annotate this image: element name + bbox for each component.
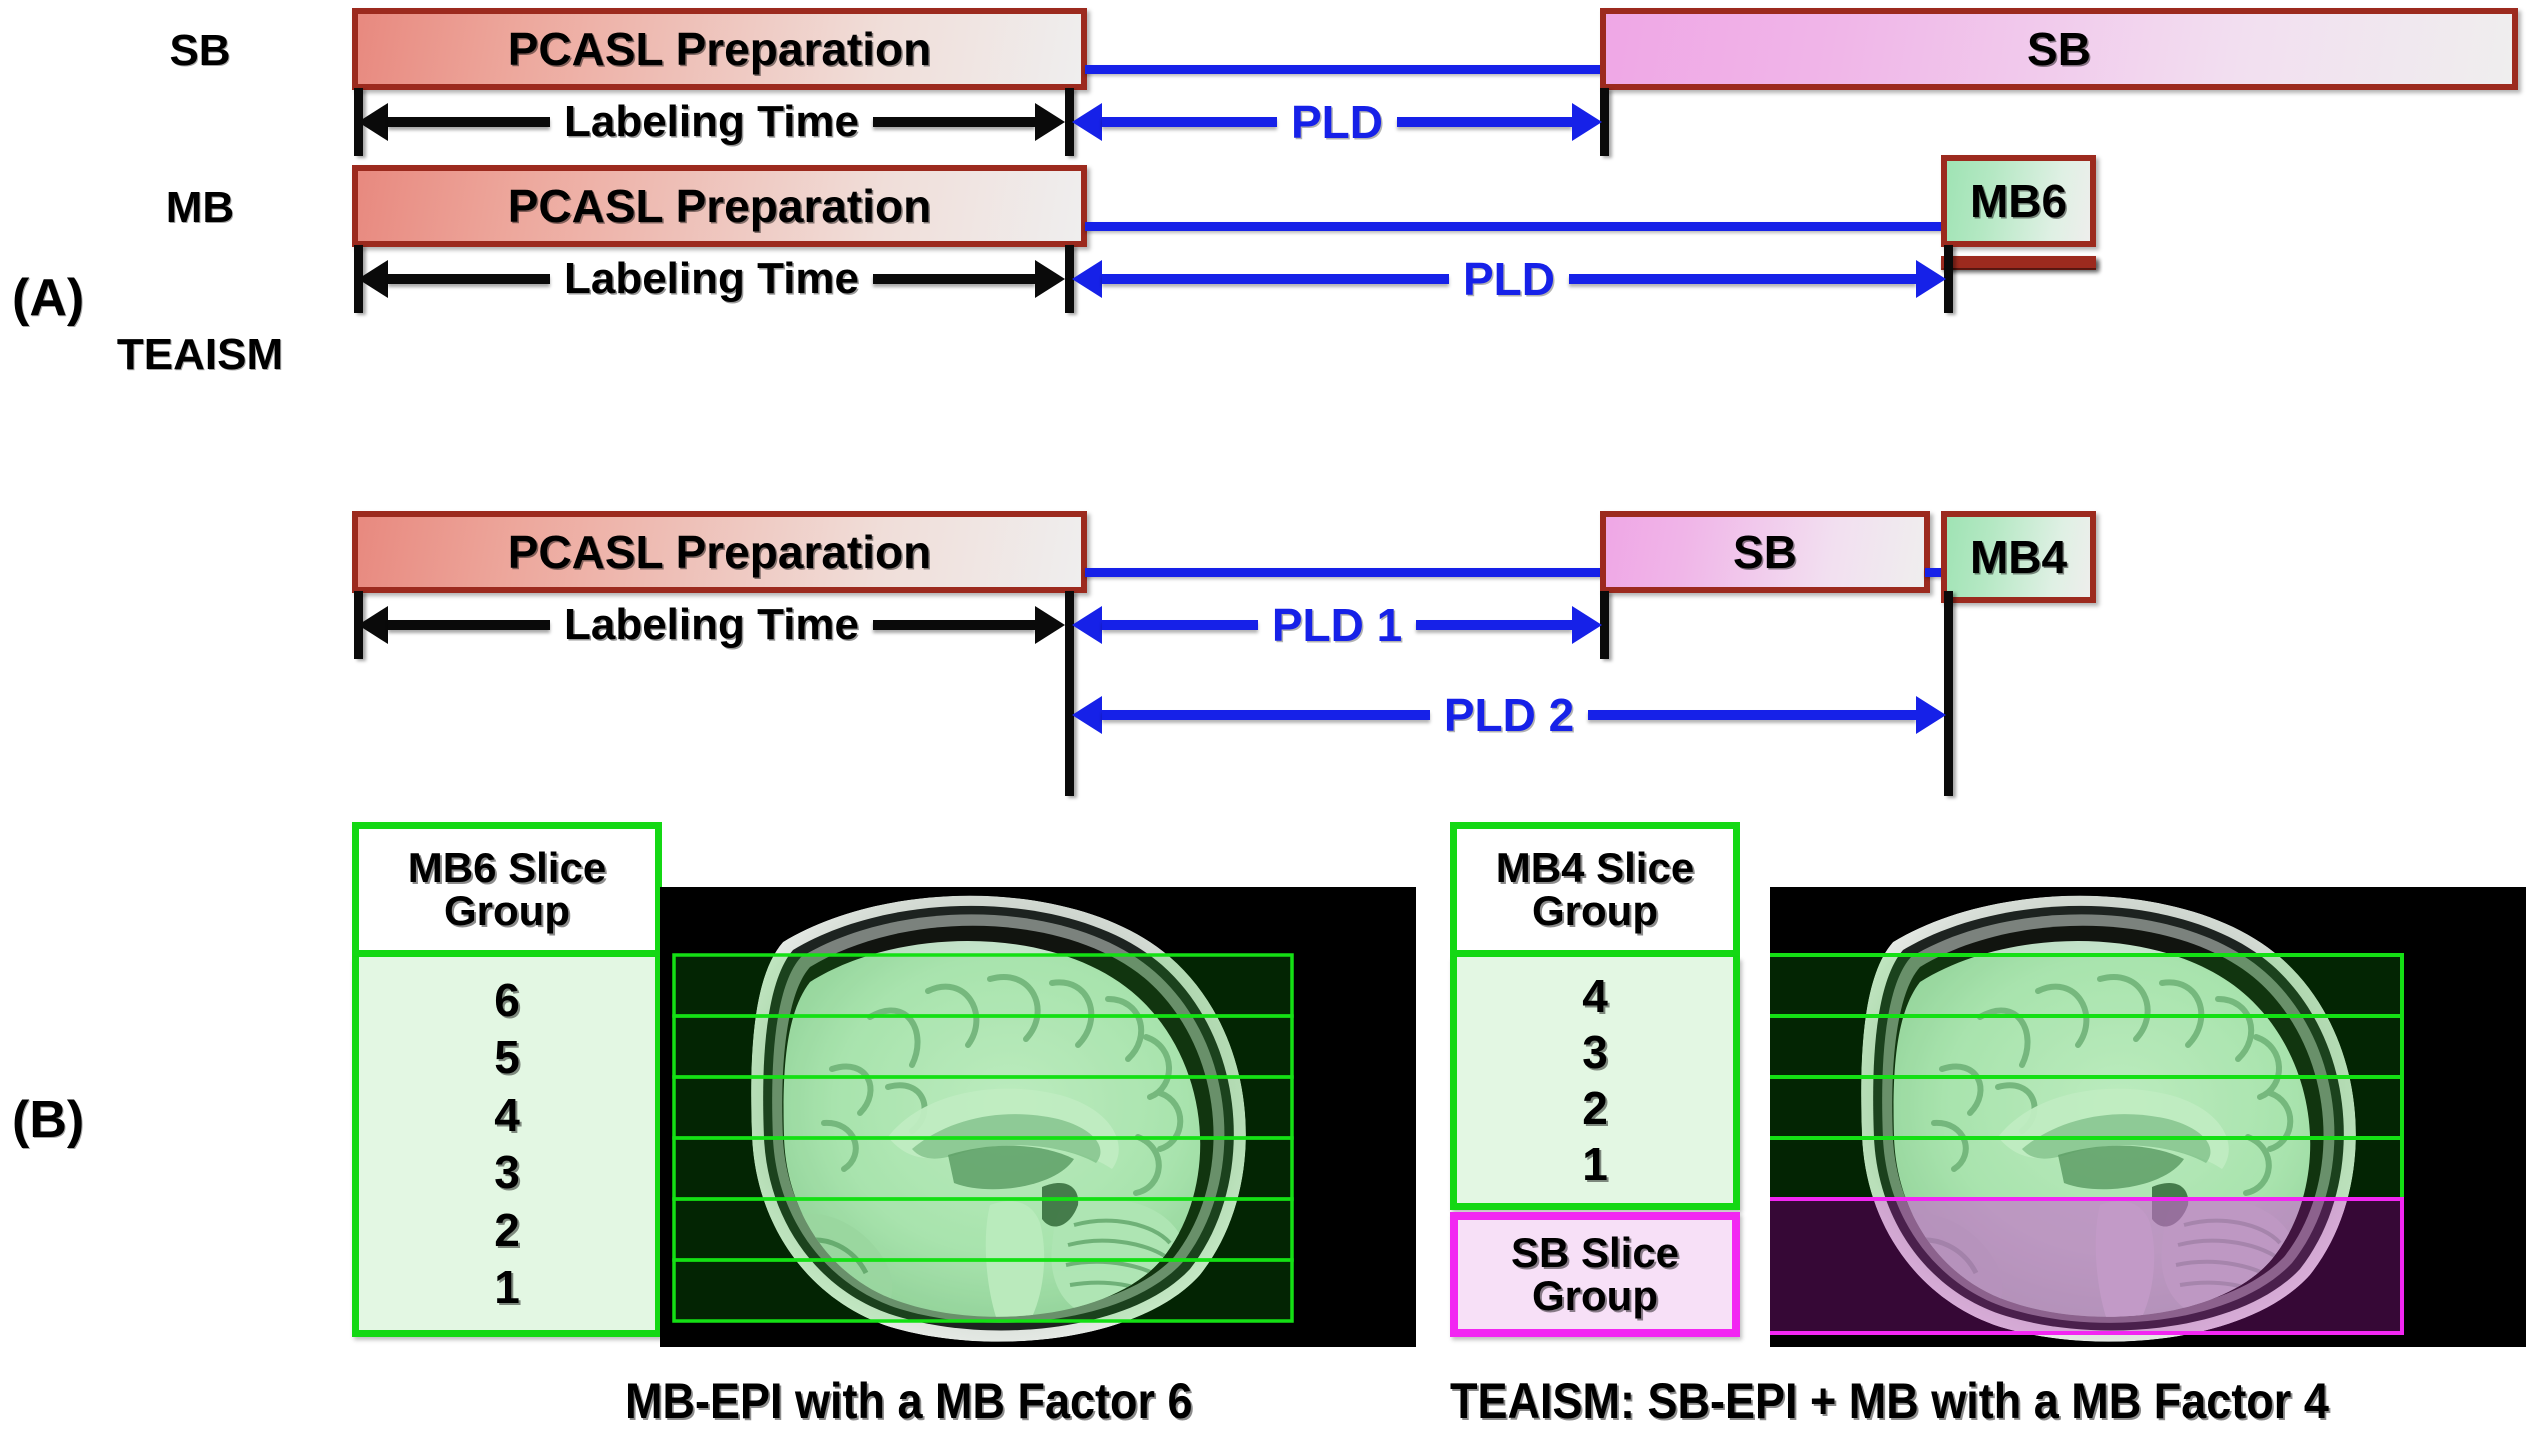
mb6-readout-box-main (1941, 256, 2096, 268)
sb-readout-box-row1: SB (1600, 8, 2518, 90)
mb6-header-line1: MB6 Slice (408, 844, 606, 891)
arrow-head-left-icon (1072, 103, 1102, 141)
pld1-label-teaism: PLD 1 (1258, 598, 1416, 652)
pcasl-prep-label-teaism: PCASL Preparation (508, 525, 931, 579)
pcasl-prep-box-teaism: PCASL Preparation (352, 511, 1087, 593)
arrow-head-right-icon (1572, 103, 1602, 141)
connector-line-mb (1085, 222, 1945, 231)
arrow-shaft (1102, 117, 1277, 127)
sb-group-line1: SB Slice (1511, 1229, 1679, 1276)
slice-group-item: 4 (1582, 969, 1608, 1023)
pld-arrow-sb: PLD (1072, 99, 1602, 145)
labeling-time-label-teaism: Labeling Time (550, 600, 873, 650)
labeling-time-arrow-mb: Labeling Time (358, 256, 1065, 302)
arrow-shaft (1569, 274, 1916, 284)
slice-band-overlay-group (674, 955, 1292, 1321)
slice-group-item: 1 (1582, 1137, 1608, 1191)
sequence-label-sb: SB (100, 26, 300, 76)
mb6-readout-label: MB6 (1970, 174, 2067, 228)
labeling-time-label-sb: Labeling Time (550, 97, 873, 147)
arrow-head-left-icon (358, 606, 388, 644)
sequence-label-teaism: TEAISM (60, 330, 340, 380)
arrow-shaft (1102, 710, 1430, 720)
pcasl-prep-label-sb: PCASL Preparation (508, 22, 931, 76)
sequence-label-mb: MB (100, 183, 300, 233)
arrow-shaft (1102, 620, 1258, 630)
mb4-readout-box: MB4 (1941, 511, 2096, 603)
labeling-time-arrow-teaism: Labeling Time (358, 602, 1065, 648)
sb-slice-group-box: SB Slice Group (1450, 1212, 1740, 1337)
mb4-header-line1: MB4 Slice (1496, 844, 1694, 891)
labeling-time-arrow-sb: Labeling Time (358, 99, 1065, 145)
arrow-head-right-icon (1916, 260, 1946, 298)
mb4-slice-group-list: 4 3 2 1 (1450, 957, 1740, 1210)
slice-group-item: 4 (494, 1088, 520, 1142)
sagittal-brain-mri-mb6 (660, 887, 1416, 1347)
arrow-head-left-icon (1072, 606, 1102, 644)
panel-a-label: (A) (12, 268, 84, 328)
sagittal-brain-mri-teaism (1770, 887, 2526, 1347)
slice-group-item: 2 (1582, 1081, 1608, 1135)
arrow-head-right-icon (1035, 606, 1065, 644)
brain-image-teaism (1770, 887, 2526, 1347)
connector-line-sb (1085, 65, 1605, 74)
slice-group-item: 3 (1582, 1025, 1608, 1079)
arrow-shaft (388, 117, 550, 127)
pcasl-prep-box-sb: PCASL Preparation (352, 8, 1087, 90)
sb-group-line2: Group (1532, 1272, 1658, 1319)
arrow-head-left-icon (1072, 696, 1102, 734)
arrow-shaft (873, 620, 1035, 630)
labeling-time-label-mb: Labeling Time (550, 254, 873, 304)
pcasl-prep-box-mb: PCASL Preparation (352, 165, 1087, 247)
mb6-slice-group-header: MB6 Slice Group (352, 822, 662, 957)
slice-group-item: 3 (494, 1145, 520, 1199)
pld2-label-teaism: PLD 2 (1430, 688, 1588, 742)
arrow-head-left-icon (358, 260, 388, 298)
pcasl-prep-label-mb: PCASL Preparation (508, 179, 931, 233)
arrow-shaft (1416, 620, 1572, 630)
sb-readout-label-row1: SB (2027, 22, 2091, 76)
slice-group-item: 6 (494, 973, 520, 1027)
arrow-head-right-icon (1035, 260, 1065, 298)
panel-b-label: (B) (12, 1090, 84, 1150)
sb-readout-box-teaism: SB (1600, 511, 1930, 593)
connector-line-teaism-1 (1085, 568, 1605, 577)
arrow-shaft (1588, 710, 1916, 720)
pld-label-sb: PLD (1277, 95, 1397, 149)
pld-label-mb: PLD (1449, 252, 1569, 306)
arrow-shaft (1397, 117, 1572, 127)
mb4-slice-group-header: MB4 Slice Group (1450, 822, 1740, 957)
caption-teaism: TEAISM: SB-EPI + MB with a MB Factor 4 (1450, 1372, 2329, 1430)
arrow-shaft (1102, 274, 1449, 284)
arrow-head-left-icon (1072, 260, 1102, 298)
arrow-shaft (388, 620, 550, 630)
caption-mb6: MB-EPI with a MB Factor 6 (625, 1372, 1193, 1430)
sb-readout-label-teaism: SB (1733, 525, 1797, 579)
pld1-arrow-teaism: PLD 1 (1072, 602, 1602, 648)
arrow-shaft (873, 274, 1035, 284)
slice-group-item: 2 (494, 1203, 520, 1257)
pld2-arrow-teaism: PLD 2 (1072, 692, 1946, 738)
mb6-readout-box-real: MB6 (1941, 155, 2096, 247)
slice-group-item: 5 (494, 1030, 520, 1084)
brain-image-mb6 (660, 887, 1416, 1347)
arrow-head-right-icon (1572, 606, 1602, 644)
pld-arrow-mb: PLD (1072, 256, 1946, 302)
mb4-readout-label: MB4 (1970, 530, 2067, 584)
slice-group-item: 1 (494, 1260, 520, 1314)
arrow-head-right-icon (1916, 696, 1946, 734)
sb-slice-band (1770, 1199, 2402, 1333)
arrow-head-right-icon (1035, 103, 1065, 141)
mb6-header-line2: Group (444, 887, 570, 934)
slice-band-overlay-group (1770, 955, 2402, 1333)
arrow-head-left-icon (358, 103, 388, 141)
arrow-shaft (388, 274, 550, 284)
arrow-shaft (873, 117, 1035, 127)
mb4-header-line2: Group (1532, 887, 1658, 934)
mb6-slice-group-list: 6 5 4 3 2 1 (352, 957, 662, 1337)
